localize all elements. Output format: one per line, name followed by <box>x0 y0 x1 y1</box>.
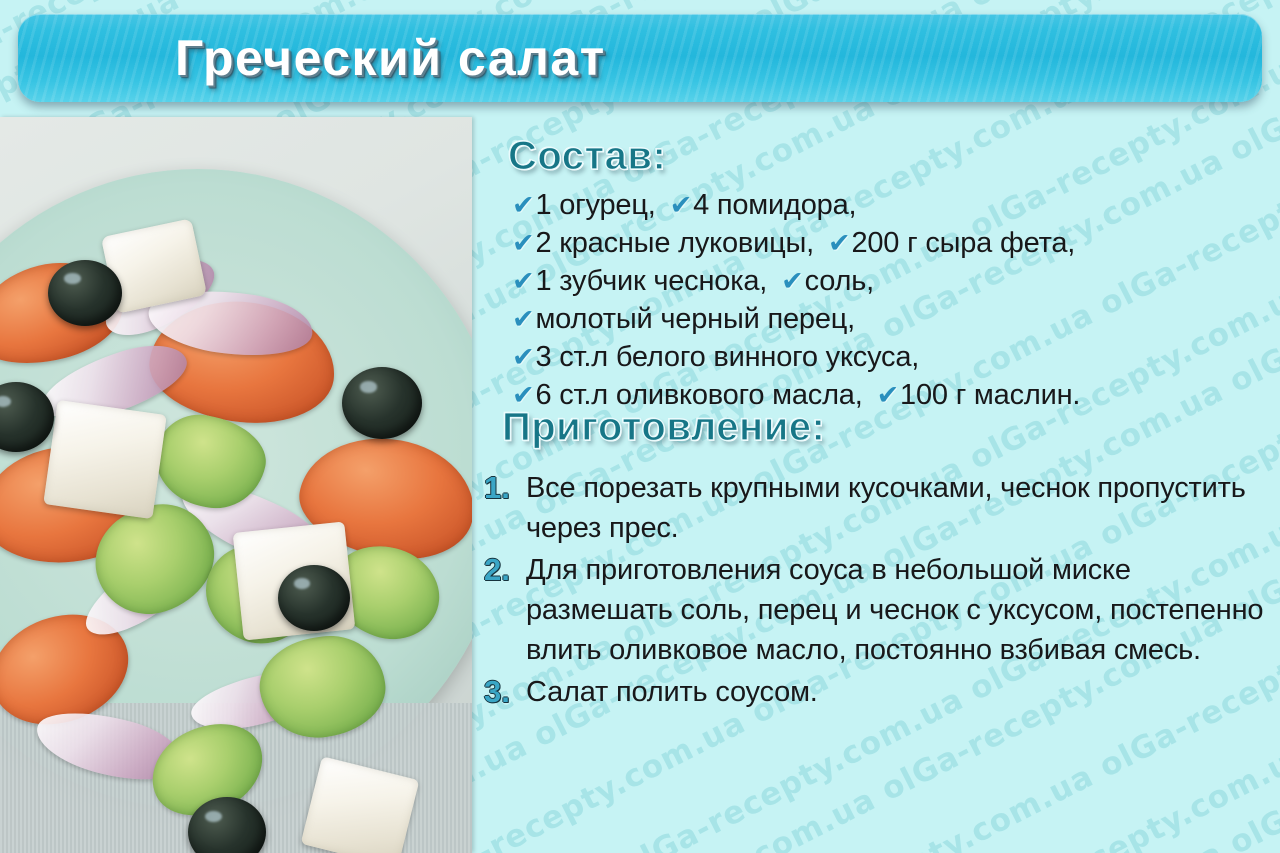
preparation-heading: Приготовление: <box>502 405 825 450</box>
ingredient-item: ✔1 зубчик чеснока,✔соль, <box>512 262 1272 300</box>
check-icon: ✔ <box>512 266 534 296</box>
ingredient-item: ✔3 ст.л белого винного уксуса, <box>512 338 1272 376</box>
check-icon: ✔ <box>512 342 534 372</box>
step-text: Салат полить соусом. <box>526 672 818 712</box>
recipe-photo <box>0 117 472 853</box>
check-icon: ✔ <box>512 304 534 334</box>
ingredients-heading: Состав: <box>508 134 666 179</box>
title-banner: Греческий салат <box>18 14 1262 102</box>
ingredient-text: 1 зубчик чеснока, <box>535 265 767 297</box>
ingredient-text: 3 ст.л белого винного уксуса, <box>535 341 919 373</box>
preparation-steps: 1. Все порезать крупными кусочками, чесн… <box>484 468 1274 714</box>
ingredients-list: ✔1 огурец,✔4 помидора, ✔2 красные лукови… <box>512 186 1272 414</box>
olive <box>342 367 422 439</box>
check-icon: ✔ <box>828 228 850 258</box>
olive <box>48 260 122 326</box>
check-icon: ✔ <box>781 266 803 296</box>
recipe-card: olGa-recepty.com.ua olGa-recepty.com.ua … <box>0 0 1280 853</box>
check-icon: ✔ <box>512 228 534 258</box>
step-item: 2. Для приготовления соуса в небольшой м… <box>484 550 1274 670</box>
recipe-title: Греческий салат <box>175 29 606 87</box>
ingredient-item: ✔2 красные луковицы,✔200 г сыра фета, <box>512 224 1272 262</box>
step-number: 2. <box>484 550 526 590</box>
check-icon: ✔ <box>512 190 534 220</box>
olive <box>278 565 350 631</box>
ingredient-item: ✔молотый черный перец, <box>512 300 1272 338</box>
step-text: Для приготовления соуса в небольшой миск… <box>526 550 1274 670</box>
ingredient-text: 200 г сыра фета, <box>851 227 1075 259</box>
check-icon: ✔ <box>670 190 692 220</box>
recipe-content: Состав: ✔1 огурец,✔4 помидора, ✔2 красны… <box>472 110 1280 853</box>
ingredient-text: 4 помидора, <box>693 189 856 221</box>
step-number: 1. <box>484 468 526 508</box>
step-item: 3. Салат полить соусом. <box>484 672 1274 712</box>
step-text: Все порезать крупными кусочками, чеснок … <box>526 468 1274 548</box>
ingredient-text: соль, <box>805 265 874 297</box>
ingredient-item: ✔1 огурец,✔4 помидора, <box>512 186 1272 224</box>
ingredient-text: 100 г маслин. <box>900 379 1080 411</box>
step-number: 3. <box>484 672 526 712</box>
feta-cube <box>43 400 167 519</box>
ingredient-text: 1 огурец, <box>535 189 655 221</box>
ingredient-text: молотый черный перец, <box>535 303 855 335</box>
ingredient-text: 2 красные луковицы, <box>535 227 814 259</box>
check-icon: ✔ <box>877 380 899 410</box>
step-item: 1. Все порезать крупными кусочками, чесн… <box>484 468 1274 548</box>
